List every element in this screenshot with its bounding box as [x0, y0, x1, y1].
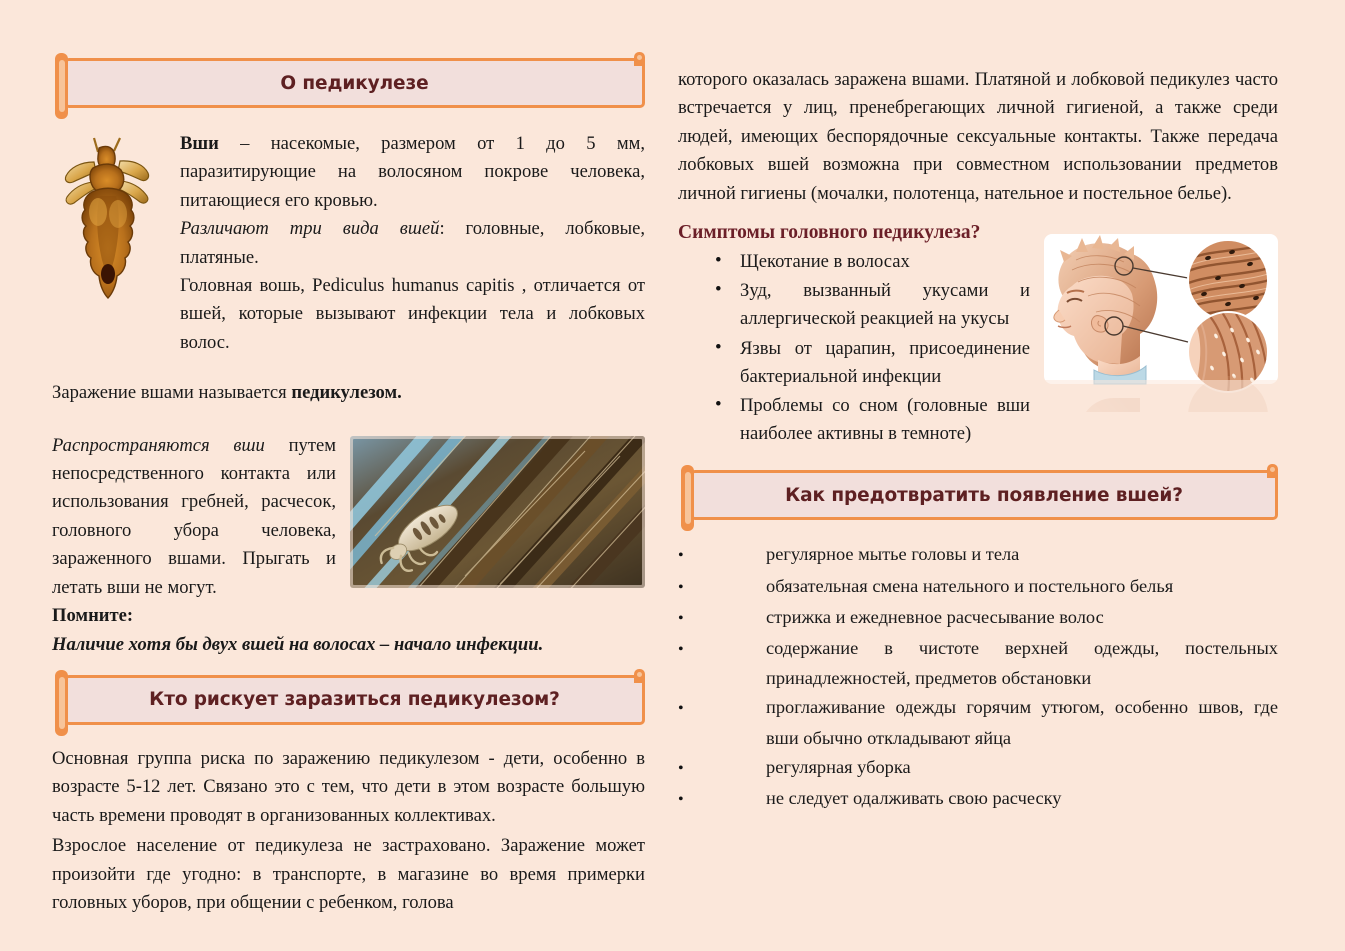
intro-lead-bold: Вши	[180, 133, 219, 154]
remember-text: Наличие хотя бы двух вшей на волосах – н…	[52, 631, 645, 659]
infection-name-bold: педикулезом.	[291, 382, 401, 403]
continuation-paragraph: которого оказалась заражена вшами. Платя…	[678, 66, 1278, 208]
banner-corner-nub	[634, 52, 645, 66]
list-item: обязательная смена нательного и постельн…	[678, 572, 1278, 602]
intro-kinds: Различают три вида вшей: головные, лобко…	[180, 215, 645, 272]
remember-label: Помните:	[52, 602, 645, 630]
bullet-icon	[678, 540, 766, 570]
intro-text-block: Вши – насекомые, размером от 1 до 5 мм, …	[180, 130, 645, 357]
list-item: регулярное мытье головы и тела	[678, 540, 1278, 570]
bullet-icon	[678, 603, 766, 633]
risk-paragraph-2: Взрослое население от педикулеза не заст…	[52, 832, 645, 917]
spread-italic-lead: Распространяются вши	[52, 435, 265, 456]
intro-lead-rest: – насекомые, размером от 1 до 5 мм, пара…	[180, 133, 645, 211]
list-item: Зуд, вызванный укусами и аллергической р…	[740, 277, 1030, 333]
brochure-page: О педикулезе	[0, 0, 1345, 951]
list-item: Язвы от царапин, присоединение бактериал…	[740, 335, 1030, 391]
list-item: регулярная уборка	[678, 753, 1278, 783]
banner-about-pediculosis: О педикулезе	[64, 58, 645, 108]
banner-about-pediculosis-label: О педикулезе	[280, 73, 428, 94]
bullet-icon	[678, 634, 766, 664]
bullet-icon	[678, 693, 766, 723]
risk-paragraph-1: Основная группа риска по заражению педик…	[52, 745, 645, 830]
list-item: не следует одалживать свою расческу	[678, 784, 1278, 814]
intro-definition: Вши – насекомые, размером от 1 до 5 мм, …	[180, 130, 645, 215]
banner-how-to-prevent: Как предотвратить появление вшей?	[690, 470, 1278, 520]
list-item: стрижка и ежедневное расчесывание волос	[678, 603, 1278, 633]
left-column: О педикулезе	[52, 58, 645, 917]
banner-corner-nub	[634, 669, 645, 683]
child-head-lice-illustration	[1036, 230, 1286, 412]
list-item-label: регулярная уборка	[766, 757, 911, 777]
louse-on-hair-photo	[350, 436, 645, 588]
list-item-label: проглаживание одежды горячим утюгом, осо…	[766, 697, 1278, 747]
banner-who-is-at-risk: Кто рискует заразиться педикулезом?	[64, 675, 645, 725]
list-item: Проблемы со сном (головные вши наиболее …	[740, 392, 1030, 448]
banner-how-to-prevent-label: Как предотвратить появление вшей?	[785, 485, 1183, 506]
infection-name-prefix: Заражение вшами называется	[52, 382, 291, 403]
list-item: проглаживание одежды горячим утюгом, осо…	[678, 693, 1278, 751]
infection-name-line: Заражение вшами называется педикулезом.	[52, 379, 645, 407]
bullet-icon	[678, 784, 766, 814]
banner-who-is-at-risk-label: Кто рискует заразиться педикулезом?	[149, 689, 560, 710]
spread-row: Распространяются вши путем непосредствен…	[52, 432, 645, 602]
list-item-label: стрижка и ежедневное расчесывание волос	[766, 607, 1104, 627]
risk-paragraphs: Основная группа риска по заражению педик…	[52, 745, 645, 917]
bullet-icon	[678, 572, 766, 602]
list-item-label: содержание в чистоте верхней одежды, пос…	[766, 638, 1278, 688]
prevention-list: регулярное мытье головы и тела обязатель…	[678, 540, 1278, 814]
intro-kinds-italic: Различают три вида вшей	[180, 218, 439, 239]
bullet-icon	[678, 753, 766, 783]
list-item-label: регулярное мытье головы и тела	[766, 544, 1019, 564]
list-item: Щекотание в волосах	[740, 248, 1030, 276]
spread-rest: путем непосредственного контакта или исп…	[52, 435, 336, 598]
intro-head-louse: Головная вошь, Pediculus humanus capitis…	[180, 272, 645, 357]
banner-corner-nub	[1267, 464, 1278, 478]
louse-specimen-photo	[52, 134, 164, 304]
intro-row: Вши – насекомые, размером от 1 до 5 мм, …	[52, 130, 645, 357]
list-item: содержание в чистоте верхней одежды, пос…	[678, 634, 1278, 692]
list-item-label: не следует одалживать свою расческу	[766, 788, 1062, 808]
right-column: которого оказалась заражена вшами. Платя…	[678, 66, 1278, 815]
symptoms-section: Симптомы головного педикулеза?	[678, 222, 1278, 448]
list-item-label: обязательная смена нательного и постельн…	[766, 576, 1173, 596]
symptoms-list: Щекотание в волосах Зуд, вызванный укуса…	[678, 248, 1030, 448]
